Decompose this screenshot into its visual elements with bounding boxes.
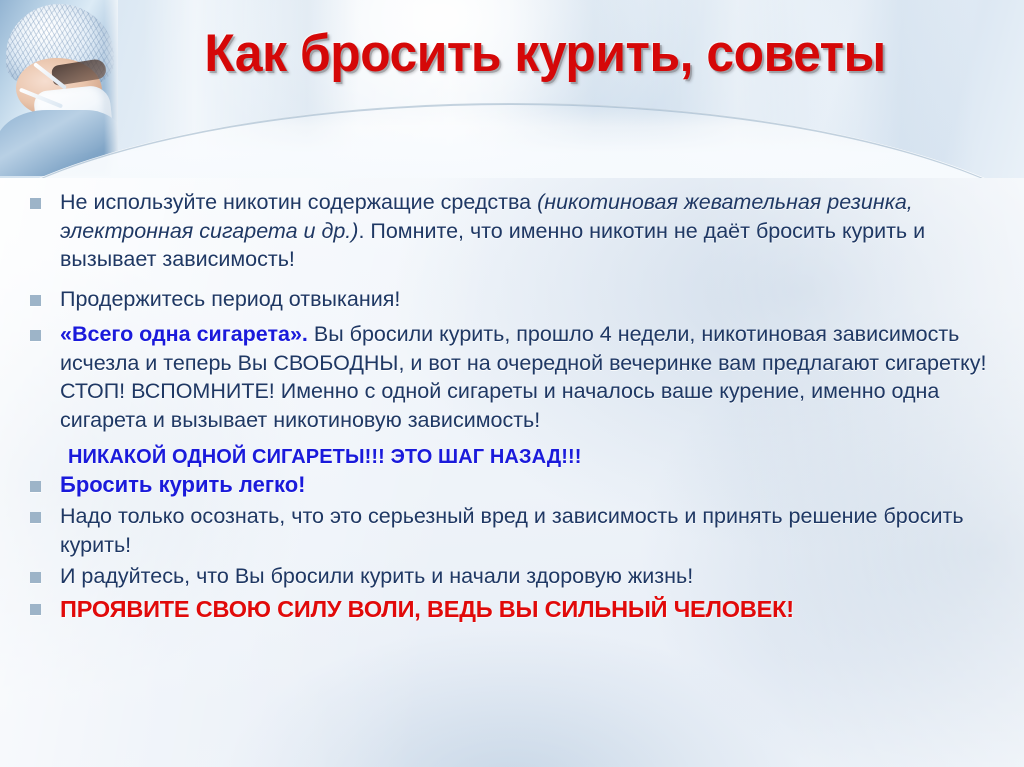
page-title: Как бросить курить, советы bbox=[174, 27, 917, 81]
emphasis-text-red: ПРОЯВИТЕ СВОЮ СИЛУ ВОЛИ, ВЕДЬ ВЫ СИЛЬНЫЙ… bbox=[60, 594, 1024, 624]
bullet-list: Не используйте никотин содержащие средст… bbox=[0, 188, 1024, 624]
list-item-emphasis-red: ПРОЯВИТЕ СВОЮ СИЛУ ВОЛИ, ВЕДЬ ВЫ СИЛЬНЫЙ… bbox=[0, 594, 1024, 624]
list-item: Продержитесь период отвыкания! bbox=[0, 285, 1024, 314]
list-item: Бросить курить легко! bbox=[0, 471, 1024, 499]
header-banner: Как бросить курить, советы bbox=[0, 0, 1024, 178]
list-item-emphasis-blue: НИКАКОЙ ОДНОЙ СИГАРЕТЫ!!! ЭТО ШАГ НАЗАД!… bbox=[0, 444, 1024, 470]
text-segment-emphasis: «Всего одна сигарета». bbox=[60, 322, 308, 346]
bullet-marker-icon bbox=[30, 604, 41, 615]
bullet-marker-icon bbox=[30, 198, 41, 209]
list-item-text: «Всего одна сигарета». Вы бросили курить… bbox=[60, 320, 1024, 434]
list-item-text-blue: Бросить курить легко! bbox=[60, 471, 1024, 499]
list-item: Не используйте никотин содержащие средст… bbox=[0, 188, 1024, 274]
bullet-marker-icon bbox=[30, 572, 41, 583]
list-item-text: Не используйте никотин содержащие средст… bbox=[60, 188, 1024, 274]
list-item: «Всего одна сигарета». Вы бросили курить… bbox=[0, 320, 1024, 434]
photo-edge-highlight bbox=[104, 0, 118, 176]
list-item: И радуйтесь, что Вы бросили курить и нач… bbox=[0, 562, 1024, 591]
list-item-text: Надо только осознать, что это серьезный … bbox=[60, 502, 1024, 559]
bullet-marker-icon bbox=[30, 330, 41, 341]
list-item-text: Продержитесь период отвыкания! bbox=[60, 285, 1024, 314]
list-item: Надо только осознать, что это серьезный … bbox=[0, 502, 1024, 559]
slide-root: Как бросить курить, советы Не используйт… bbox=[0, 0, 1024, 767]
emphasis-text-blue: НИКАКОЙ ОДНОЙ СИГАРЕТЫ!!! ЭТО ШАГ НАЗАД!… bbox=[60, 444, 1024, 470]
bullet-marker-icon bbox=[30, 481, 41, 492]
medical-worker-photo bbox=[0, 0, 118, 176]
text-segment: Не используйте никотин содержащие средст… bbox=[60, 190, 537, 214]
bullet-marker-icon bbox=[30, 512, 41, 523]
list-item-text: И радуйтесь, что Вы бросили курить и нач… bbox=[60, 562, 1024, 591]
bullet-marker-icon bbox=[30, 295, 41, 306]
